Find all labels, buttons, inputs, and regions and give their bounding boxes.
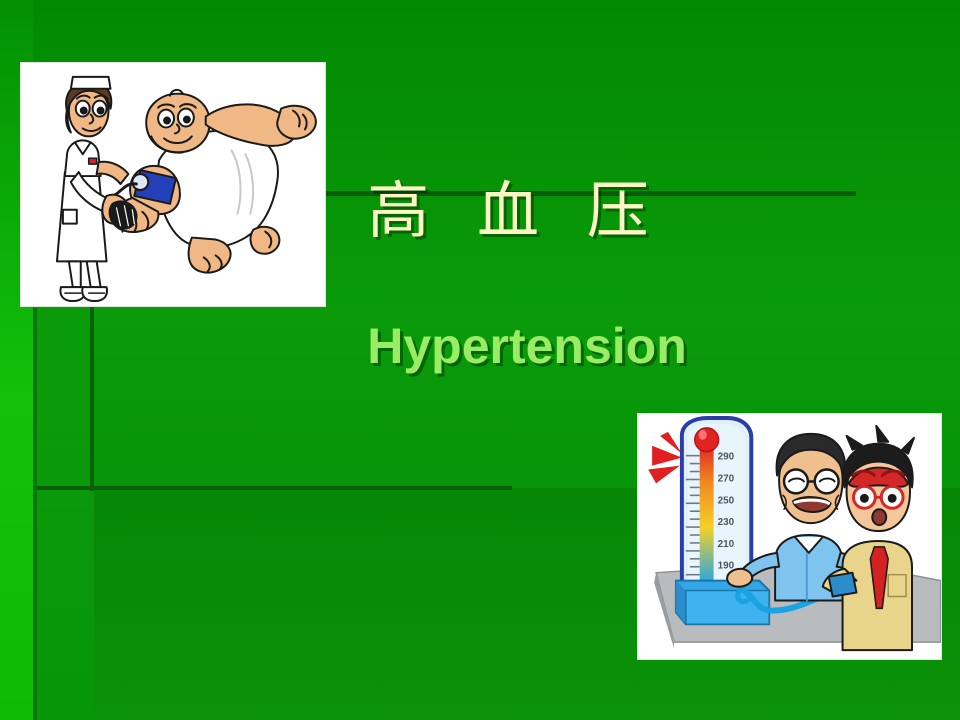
gauge-tick-250: 250 [718,495,735,506]
gauge-tick-290: 290 [718,452,735,463]
divider-horizontal-lower [37,486,512,490]
nurse-measuring-blood-pressure-image [20,62,326,307]
nurse-cartoon-svg [21,63,325,306]
gauge-tick-230: 230 [718,517,735,528]
page-title-english: Hypertension [352,318,702,374]
gauge-tick-210: 210 [718,539,735,550]
slide-canvas: 290 270 250 230 210 190 [0,0,960,720]
blood-pressure-gauge-image: 290 270 250 230 210 190 [637,413,942,660]
page-title-chinese: 高 血 压 [340,174,690,248]
background-ribbon-left-edge [33,308,37,720]
gauge-tick-270: 270 [718,473,735,484]
bp-gauge-cartoon-svg: 290 270 250 230 210 190 [638,414,941,659]
divider-vertical [90,307,94,491]
